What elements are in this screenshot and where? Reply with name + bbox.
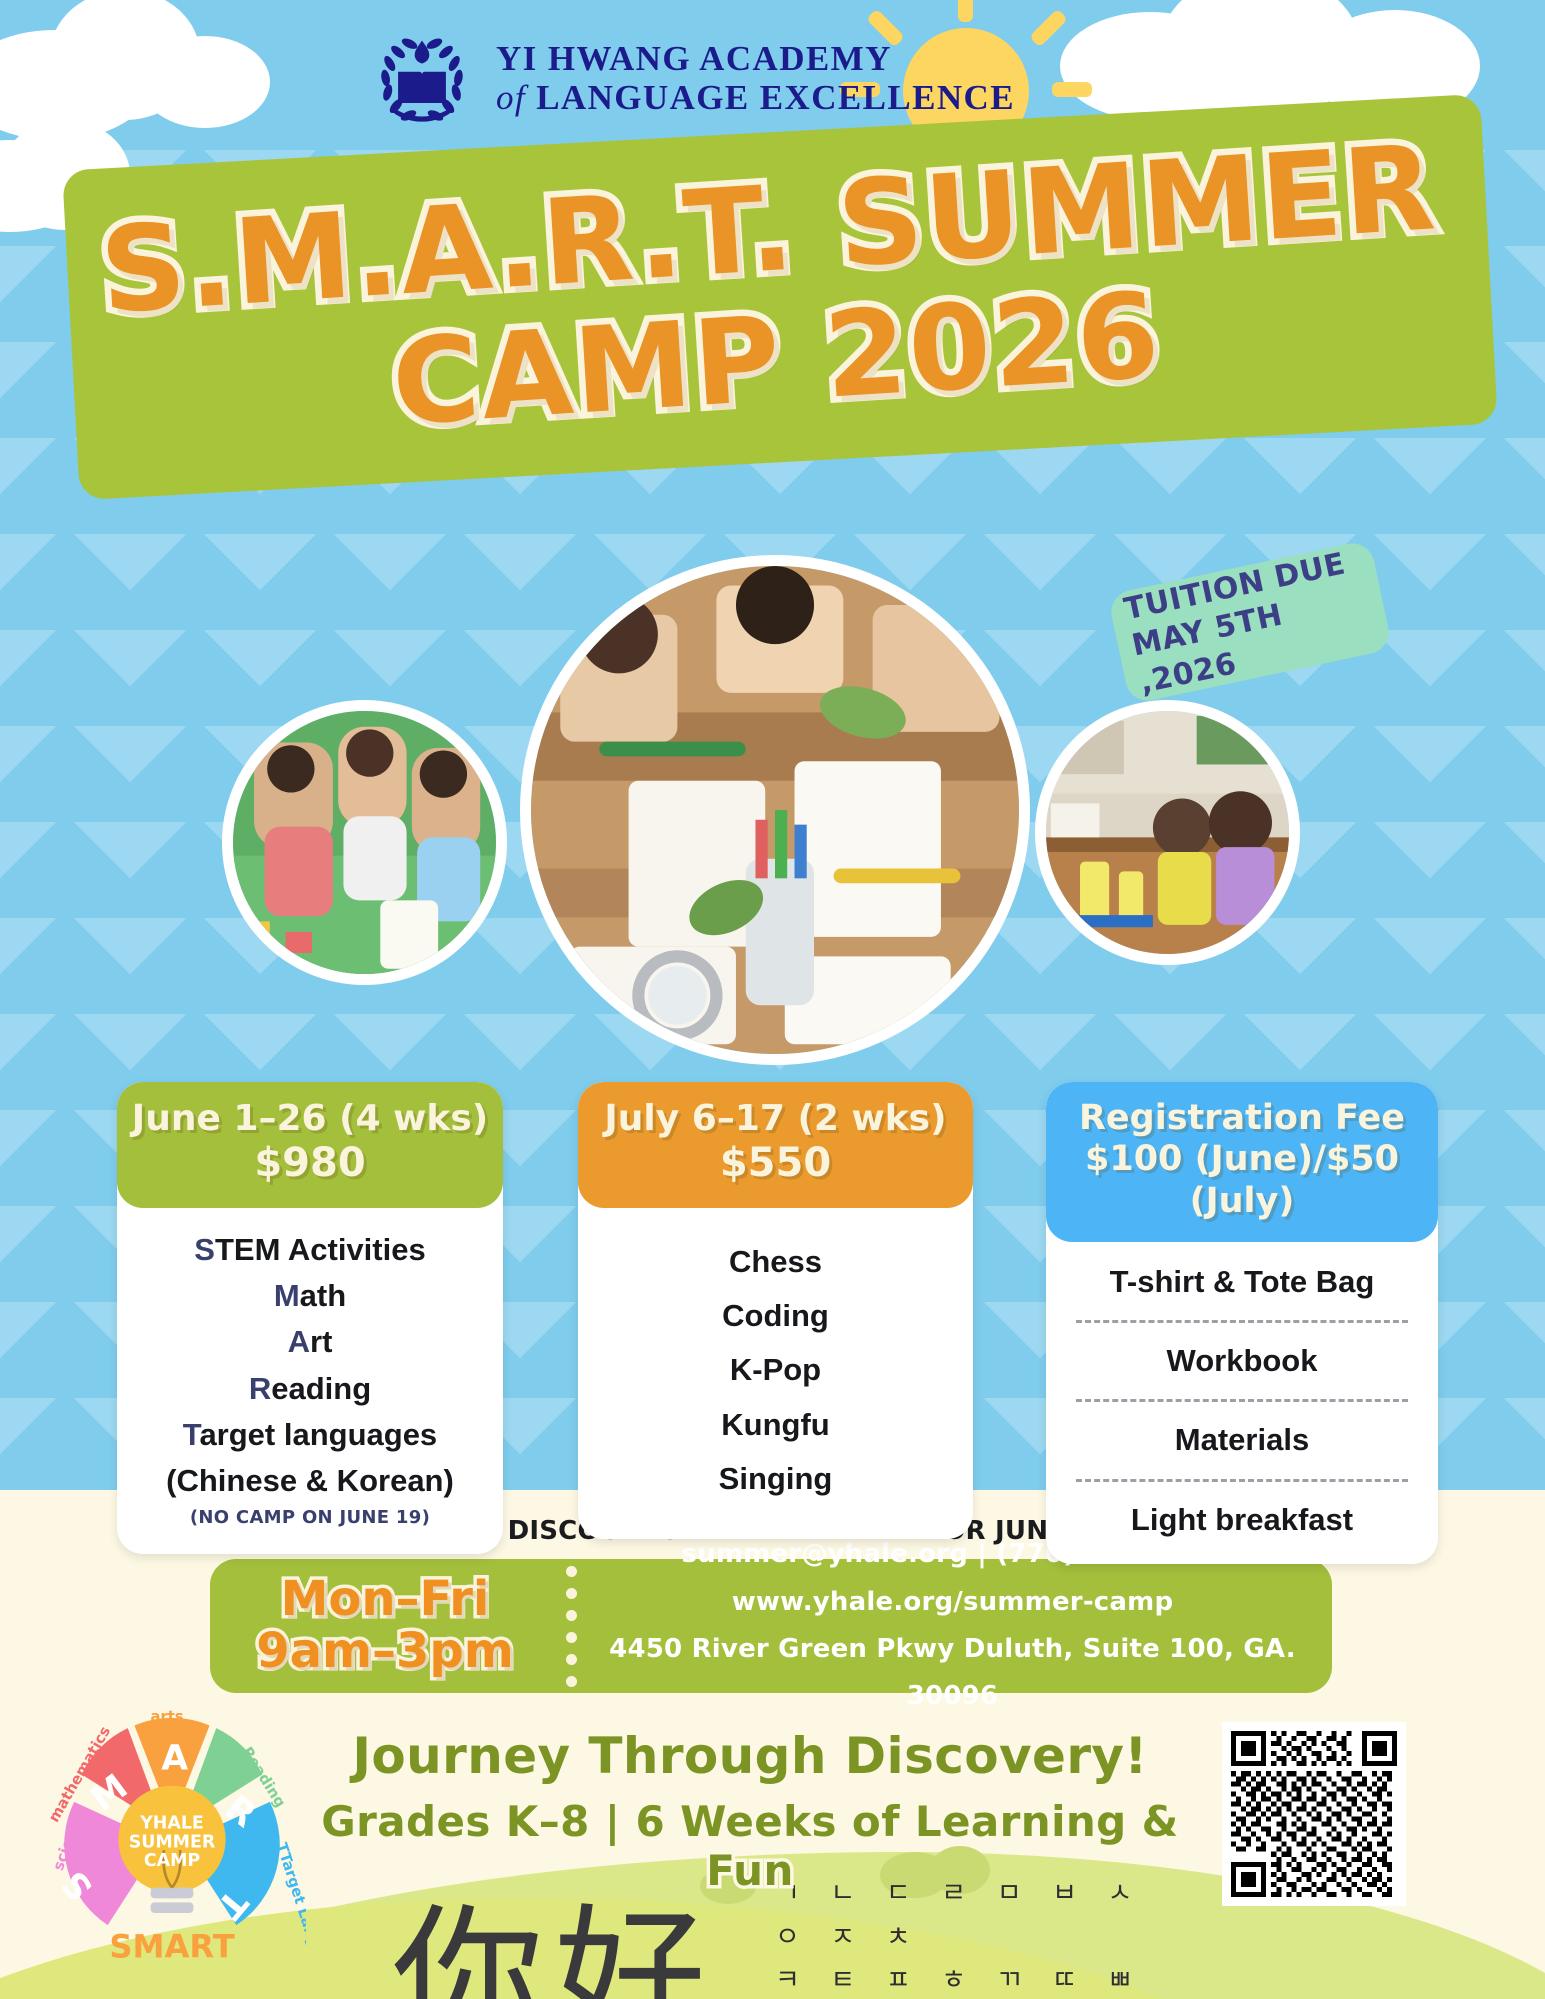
contact-bar: Mon–Fri 9am–3pm summer@yhale.org | (770)… [210,1559,1332,1693]
hours-times: 9am–3pm [230,1626,540,1678]
list-item: Art [131,1322,489,1362]
list-item-text: TEM Activities [215,1232,426,1267]
lightbulb-icon: YHALE SUMMER CAMP [118,1786,225,1913]
list-item-text: eading [271,1371,371,1406]
contact-address: 4450 River Green Pkwy Duluth, Suite 100,… [603,1626,1302,1721]
card-july-camp: July 6–17 (2 wks) $550 Chess Coding K-Po… [578,1082,973,1539]
list-item: (Chinese & Korean) [131,1461,489,1501]
contact-website[interactable]: www.yhale.org/summer-camp [603,1579,1302,1626]
camp-hours: Mon–Fri 9am–3pm [210,1574,540,1678]
card-july-price: $550 [588,1140,963,1187]
book-laurel-crest-icon [370,26,474,130]
card-july-body: Chess Coding K-Pop Kungfu Singing [578,1208,973,1539]
card-june-note: (NO CAMP ON JUNE 19) [131,1507,489,1528]
wheel-center-line-2: SUMMER [129,1832,216,1852]
list-item: Light breakfast [1068,1500,1416,1540]
photo-nature-drawing-table [520,555,1030,1065]
list-item-text: ath [300,1278,347,1313]
card-june-dates: June 1–26 (4 wks) [127,1098,493,1140]
list-item: Coding [592,1296,959,1336]
smart-wheel-logo: M A R T S mathematics arts Reading TTarg… [38,1700,306,1968]
list-item: Target languages [131,1415,489,1455]
wheel-letter-a: A [161,1739,188,1779]
card-june-body: STEM Activities Math Art Reading Target … [117,1208,503,1555]
tagline: Journey Through Discovery! Grades K–8 | … [300,1727,1200,1895]
list-item: Workbook [1068,1341,1416,1381]
logo-of-word: of [496,78,536,117]
card-registration-body: T-shirt & Tote Bag Workbook Materials Li… [1046,1242,1438,1564]
hours-days: Mon–Fri [230,1574,540,1626]
list-divider [1076,1479,1408,1482]
wheel-label-arts: arts [151,1708,184,1725]
card-registration-price: $100 (June)/$50 (July) [1056,1139,1428,1222]
qr-code-icon[interactable] [1222,1722,1406,1906]
list-item: STEM Activities [131,1230,489,1270]
card-registration-header: Registration Fee $100 (June)/$50 (July) [1046,1082,1438,1242]
list-item: Kungfu [592,1405,959,1445]
list-item-text: (Chinese & Korean) [166,1463,454,1498]
card-july-dates: July 6–17 (2 wks) [588,1098,963,1140]
list-divider [1076,1399,1408,1402]
logo-line-2-text: LANGUAGE EXCELLENCE [536,78,1015,117]
tagline-line-1: Journey Through Discovery! [300,1727,1200,1785]
wheel-bottom-word: SMART [109,1927,234,1965]
logo-line-2: of LANGUAGE EXCELLENCE [496,78,1015,117]
hangul-row: ㅋ ㅌ ㅍ ㅎ ㄲ ㄸ ㅃ ㅆ ㅉ ㅏ [775,1959,1165,1999]
card-june-header: June 1–26 (4 wks) $980 [117,1082,503,1208]
list-divider [1076,1320,1408,1323]
smart-letter: S [194,1232,215,1267]
list-item: Chess [592,1242,959,1282]
smart-letter: R [249,1371,271,1406]
list-item: K-Pop [592,1350,959,1390]
dotted-separator [540,1566,603,1687]
card-july-header: July 6–17 (2 wks) $550 [578,1082,973,1208]
photo-classroom-science [1035,700,1300,965]
photo-kids-floor-activity [222,700,507,985]
card-registration-fee: Registration Fee $100 (June)/$50 (July) … [1046,1082,1438,1564]
logo-line-1: YI HWANG ACADEMY [496,39,1015,78]
smart-letter: A [288,1324,310,1359]
list-item: Materials [1068,1420,1416,1460]
poster-root: YI HWANG ACADEMY of LANGUAGE EXCELLENCE … [0,0,1545,1999]
smart-letter: T [183,1417,200,1452]
list-item: Reading [131,1369,489,1409]
smart-letter: M [274,1278,300,1313]
list-item-text: arget languages [199,1417,437,1452]
tagline-line-2: Grades K–8 | 6 Weeks of Learning & Fun [300,1797,1200,1895]
academy-logo: YI HWANG ACADEMY of LANGUAGE EXCELLENCE [370,26,1015,130]
card-june-price: $980 [127,1140,493,1187]
card-registration-title: Registration Fee [1056,1098,1428,1139]
wheel-label-target-language: TTarget Language [273,1841,306,1968]
list-item: T-shirt & Tote Bag [1068,1262,1416,1302]
wheel-center-line-1: YHALE [139,1814,204,1834]
wheel-center-line-3: CAMP [144,1851,201,1871]
list-item: Singing [592,1459,959,1499]
card-june-camp: June 1–26 (4 wks) $980 STEM Activities M… [117,1082,503,1554]
list-item: Math [131,1276,489,1316]
list-item-text: rt [310,1324,332,1359]
